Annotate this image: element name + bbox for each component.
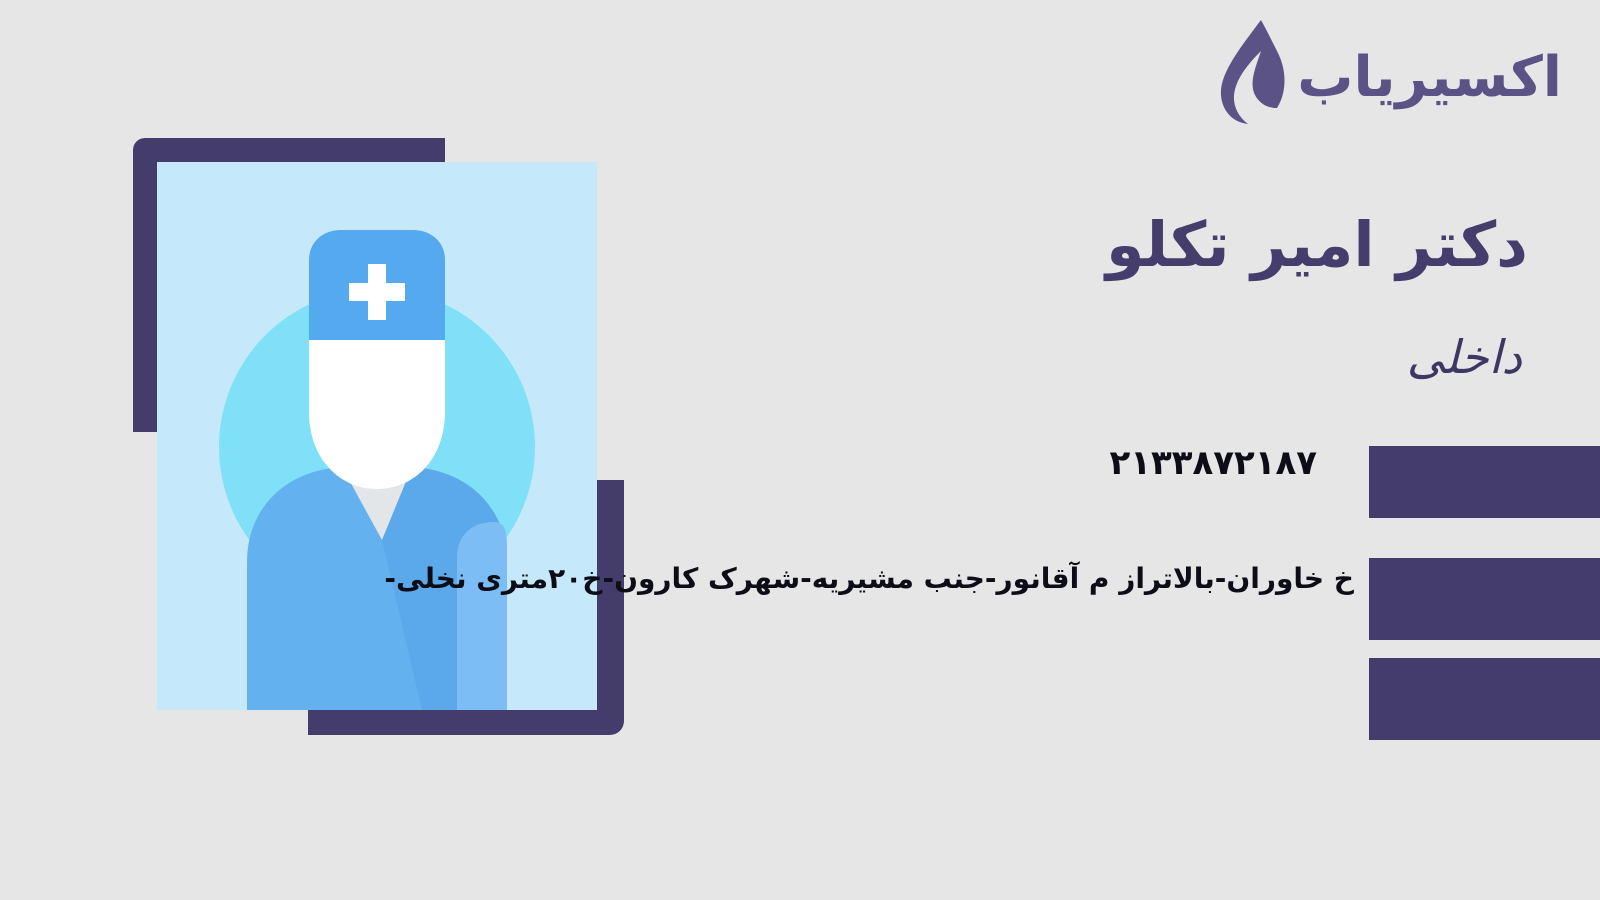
illustration-group xyxy=(0,0,700,780)
doctor-phone[interactable]: ۲۱۳۳۸۷۲۱۸۷ xyxy=(1109,443,1317,483)
doctor-specialty: داخلی xyxy=(1407,330,1522,385)
brand-name: اکسیریاب xyxy=(1297,50,1562,106)
doctor-profile-card: اکسیریاب xyxy=(0,0,1600,900)
decor-bar-3 xyxy=(1369,658,1600,740)
decor-bar-1 xyxy=(1369,446,1600,518)
doctor-address: خ خاوران-بالاتراز م آقانور-جنب مشیریه-شه… xyxy=(384,562,1354,595)
flame-drop-logo-icon xyxy=(1209,18,1287,126)
decor-bar-2 xyxy=(1369,558,1600,640)
doctor-name: دکتر امیر تکلو xyxy=(1106,208,1528,282)
brand-logo[interactable]: اکسیریاب xyxy=(1209,18,1562,126)
doctor-avatar-illustration xyxy=(157,162,597,710)
